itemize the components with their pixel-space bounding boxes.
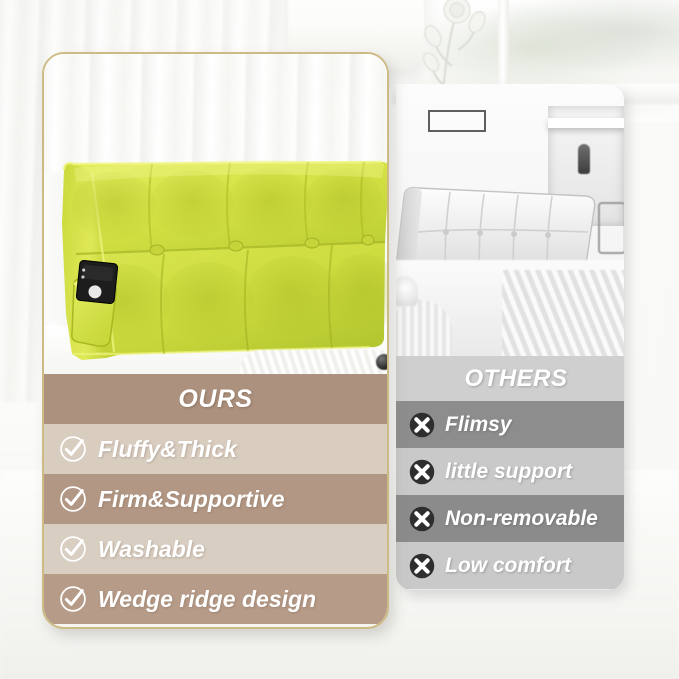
product-comparison-image: OTHERS Flimsy little support bbox=[0, 0, 679, 679]
x-circle-icon bbox=[408, 458, 436, 486]
ours-feature-list: OURS Fluffy&Thick Firm&Supportive bbox=[44, 374, 387, 627]
ours-feature-row-1: Fluffy&Thick bbox=[44, 424, 387, 474]
ours-photo-bed-knob bbox=[376, 354, 387, 370]
others-feature-label: Low comfort bbox=[445, 554, 571, 578]
others-header-row: OTHERS bbox=[396, 356, 624, 401]
others-feature-label: Flimsy bbox=[445, 413, 512, 437]
others-feature-label: little support bbox=[445, 460, 572, 484]
others-comparison-card: OTHERS Flimsy little support bbox=[396, 84, 624, 590]
ours-feature-label: Fluffy&Thick bbox=[98, 436, 237, 463]
others-feature-label: Non-removable bbox=[445, 507, 598, 531]
others-product-photo bbox=[396, 84, 624, 356]
ours-wedge-pillow bbox=[52, 114, 387, 369]
others-feature-row-4: Low comfort bbox=[396, 542, 624, 589]
check-circle-icon bbox=[58, 484, 88, 514]
others-feature-row-1: Flimsy bbox=[396, 401, 624, 448]
ours-photo-blanket bbox=[240, 350, 387, 374]
others-photo-lamp bbox=[396, 276, 418, 306]
others-feature-row-2: little support bbox=[396, 448, 624, 495]
others-feature-list: OTHERS Flimsy little support bbox=[396, 356, 624, 590]
others-photo-wall-art bbox=[428, 110, 486, 132]
ours-feature-row-3: Washable bbox=[44, 524, 387, 574]
ours-feature-label: Washable bbox=[98, 536, 205, 563]
ours-header-label: OURS bbox=[178, 385, 252, 414]
check-circle-icon bbox=[58, 584, 88, 614]
ours-feature-row-2: Firm&Supportive bbox=[44, 474, 387, 524]
check-circle-icon bbox=[58, 534, 88, 564]
x-circle-icon bbox=[408, 552, 436, 580]
others-photo-figurine bbox=[578, 144, 590, 174]
others-photo-throw bbox=[502, 270, 624, 356]
others-feature-row-3: Non-removable bbox=[396, 495, 624, 542]
ours-feature-label: Wedge ridge design bbox=[98, 586, 316, 613]
x-circle-icon bbox=[408, 505, 436, 533]
ours-feature-label: Firm&Supportive bbox=[98, 486, 285, 513]
ours-product-photo bbox=[44, 54, 387, 374]
x-circle-icon bbox=[408, 411, 436, 439]
others-header-label: OTHERS bbox=[464, 365, 567, 393]
others-photo-chair-rail bbox=[598, 202, 624, 254]
ours-feature-row-4: Wedge ridge design bbox=[44, 574, 387, 624]
others-photo-shelf bbox=[548, 118, 624, 128]
ours-comparison-card: OURS Fluffy&Thick Firm&Supportive bbox=[42, 52, 389, 629]
check-circle-icon bbox=[58, 434, 88, 464]
ours-header-row: OURS bbox=[44, 374, 387, 424]
